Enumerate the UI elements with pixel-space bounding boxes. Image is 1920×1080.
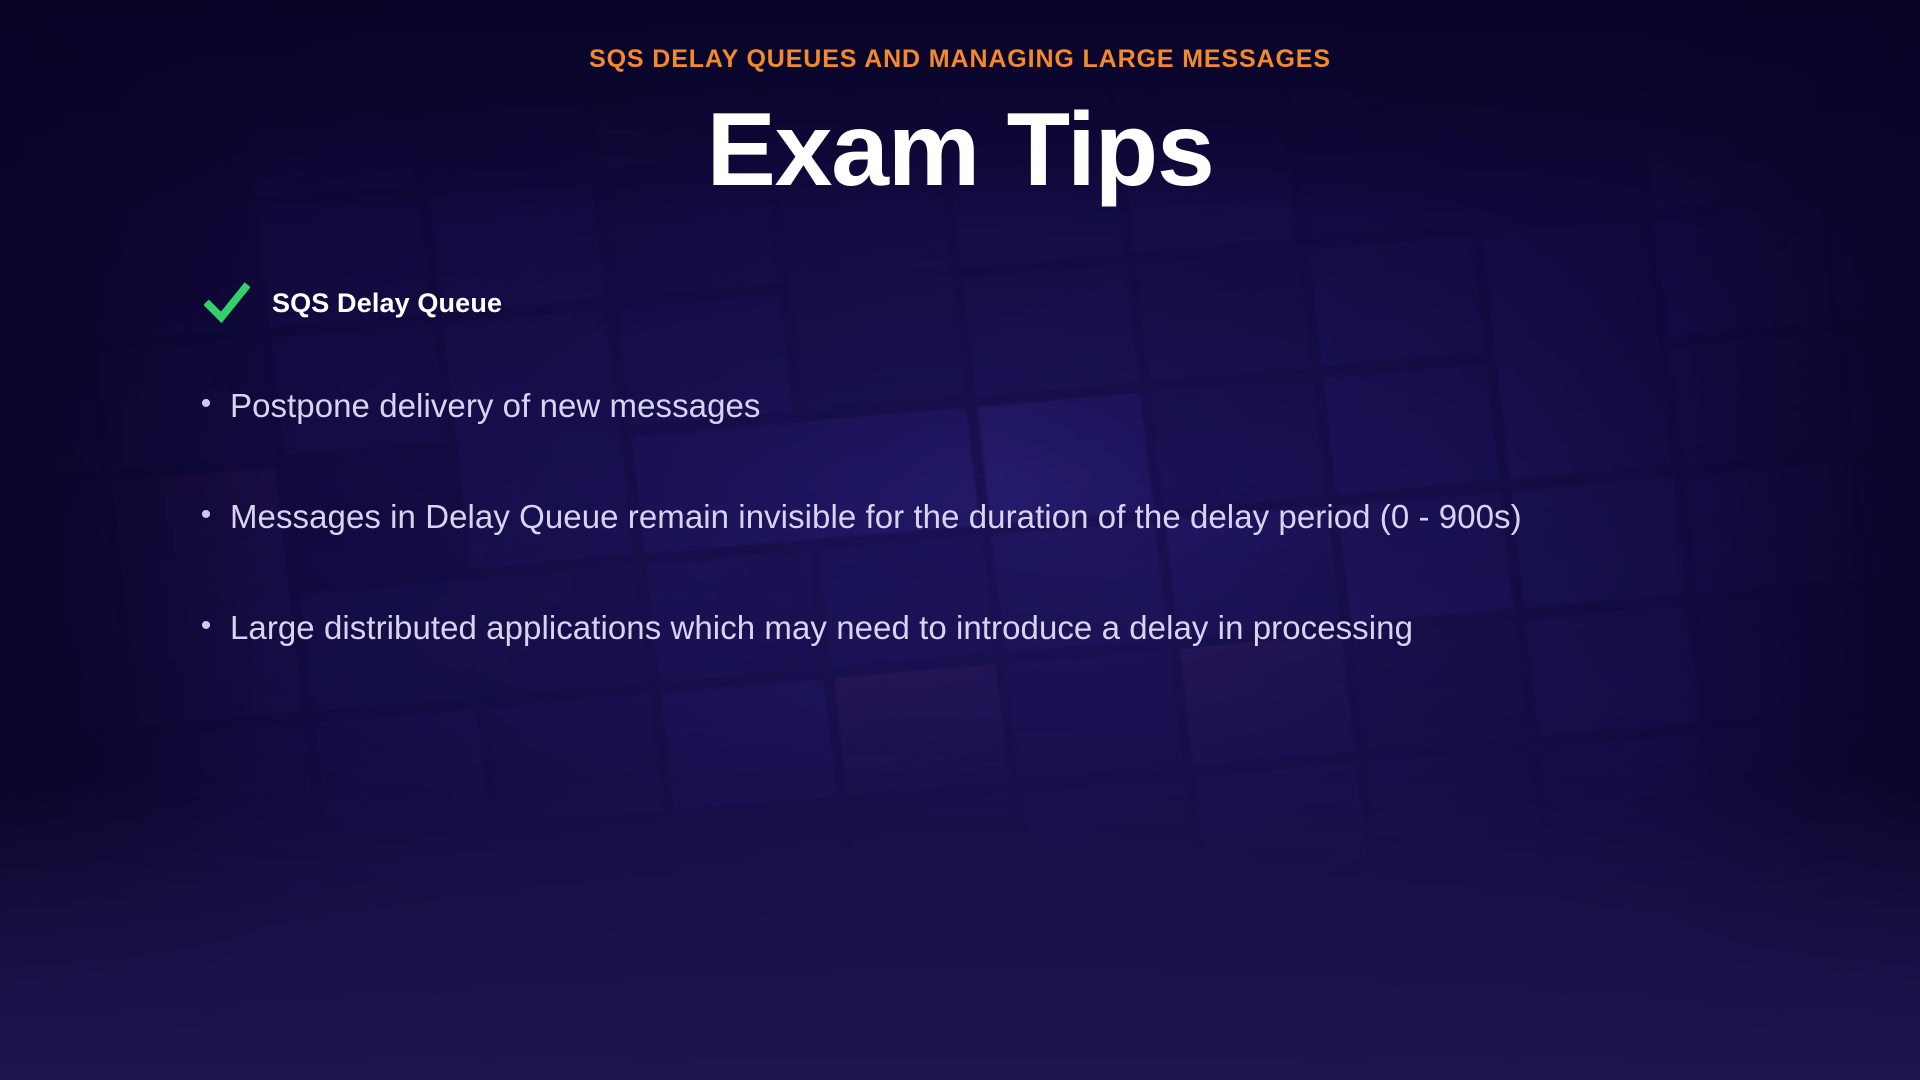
bullet-marker: • (200, 499, 212, 531)
list-item: • Large distributed applications which m… (200, 610, 1820, 647)
slide-eyebrow: SQS DELAY QUEUES AND MANAGING LARGE MESS… (0, 45, 1920, 74)
list-item: • Messages in Delay Queue remain invisib… (200, 499, 1820, 536)
bullet-text: Large distributed applications which may… (230, 610, 1413, 647)
slide-content: SQS DELAY QUEUES AND MANAGING LARGE MESS… (0, 0, 1920, 1080)
bullet-text: Postpone delivery of new messages (230, 388, 760, 425)
bullet-marker: • (200, 610, 212, 642)
slide-body: SQS Delay Queue • Postpone delivery of n… (200, 280, 1820, 647)
green-check-icon (204, 280, 250, 326)
subheading-row: SQS Delay Queue (200, 280, 1820, 326)
bullet-marker: • (200, 388, 212, 420)
subheading-label: SQS Delay Queue (272, 288, 502, 319)
list-item: • Postpone delivery of new messages (200, 388, 1820, 425)
slide: SQS DELAY QUEUES AND MANAGING LARGE MESS… (0, 0, 1920, 1080)
page-title: Exam Tips (0, 98, 1920, 202)
bullet-text: Messages in Delay Queue remain invisible… (230, 499, 1522, 536)
